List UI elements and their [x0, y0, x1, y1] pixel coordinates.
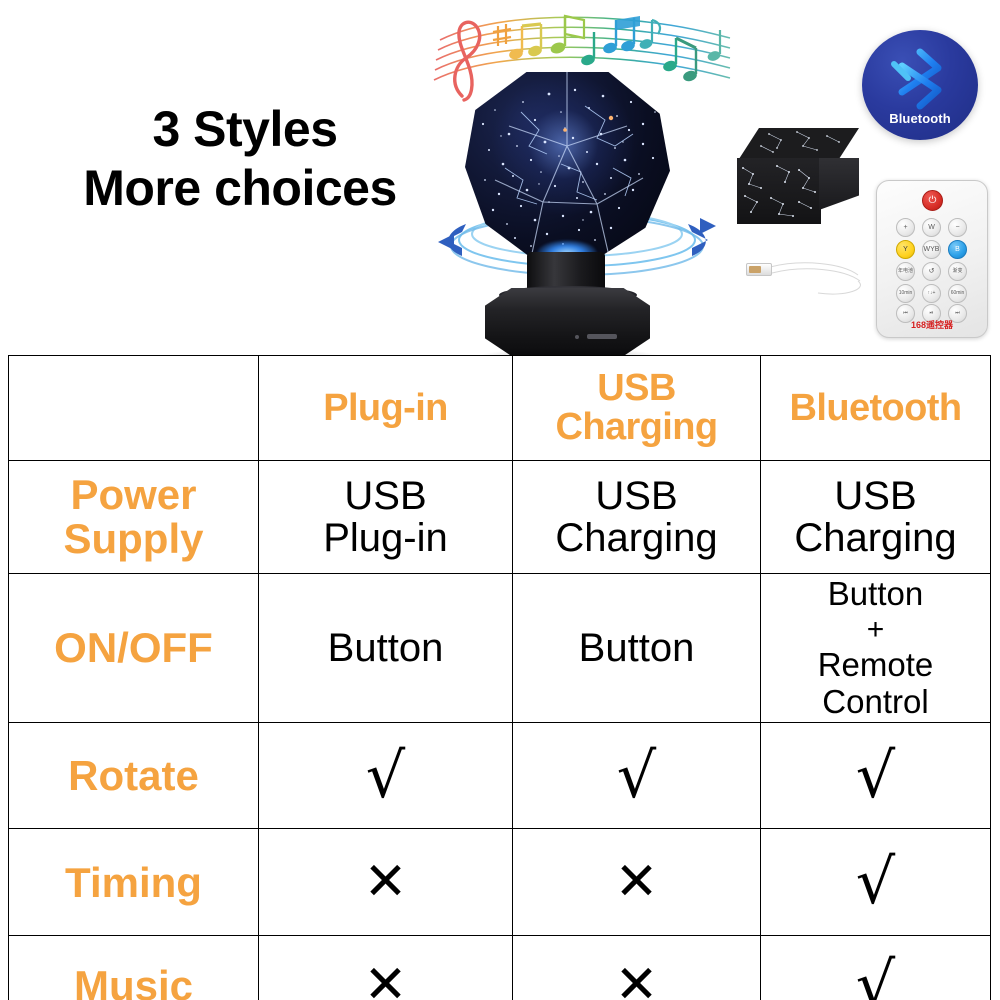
cell-power-supply-usb-charging: USB Charging	[513, 461, 761, 574]
row-label-music: Music	[9, 936, 259, 1000]
table-corner-cell	[9, 356, 259, 461]
row-label-power-supply: Power Supply	[9, 461, 259, 574]
cell-power-supply-plug-in-line-1: USB	[263, 475, 508, 517]
cell-on-off-usb-charging-line-1: Button	[517, 627, 756, 669]
column-header-usb-charging-line-2: Charging	[517, 408, 756, 447]
cell-power-supply-usb-charging-line-1: USB	[517, 475, 756, 517]
column-header-usb-charging: USB Charging	[513, 356, 761, 461]
table-row-power-supply: Power Supply USB Plug-in USB Charging US…	[9, 461, 991, 574]
headline-line-2: More choices	[40, 159, 440, 218]
headline-line-1: 3 Styles	[40, 100, 440, 159]
cell-power-supply-plug-in: USB Plug-in	[259, 461, 513, 574]
row-label-power-supply-line-2: Supply	[13, 517, 254, 561]
table-row-on-off: ON/OFF Button Button Button + Remote Con…	[9, 574, 991, 723]
cell-on-off-bluetooth-line-3: Remote Control	[765, 647, 986, 721]
cell-music-plug-in-cross-icon: ✕	[259, 936, 513, 1000]
row-label-on-off: ON/OFF	[9, 574, 259, 723]
cell-music-bluetooth-check-icon: √	[761, 936, 991, 1000]
remote-rotate-button[interactable]: ↺	[922, 262, 941, 281]
lamp-indicator-led	[575, 335, 579, 339]
row-label-music-line-1: Music	[13, 964, 254, 1000]
cell-on-off-usb-charging: Button	[513, 574, 761, 723]
lamp-usb-port	[587, 334, 617, 339]
remote-power-button[interactable]: ⏻	[922, 190, 943, 211]
cell-power-supply-bluetooth-line-2: Charging	[765, 517, 986, 559]
cell-on-off-bluetooth-line-2: +	[765, 613, 986, 647]
table-row-music: Music ✕ ✕ √	[9, 936, 991, 1000]
remote-y-button[interactable]: Y	[896, 240, 915, 259]
remote-mode-button[interactable]: 年电池	[896, 262, 915, 281]
product-comparison-page: 3 Styles More choices	[0, 0, 1000, 1000]
cell-power-supply-plug-in-line-2: Plug-in	[263, 517, 508, 559]
remote-plus-button[interactable]: +	[896, 218, 915, 237]
usb-cable	[742, 248, 870, 298]
table-row-rotate: Rotate √ √ √	[9, 723, 991, 829]
cell-rotate-usb-charging-check-icon: √	[513, 723, 761, 829]
page-title: 3 Styles More choices	[40, 100, 440, 218]
cell-timing-bluetooth-check-icon: √	[761, 829, 991, 936]
row-label-power-supply-line-1: Power	[13, 473, 254, 517]
remote-timer-60-button[interactable]: 60min	[948, 284, 967, 303]
remote-b-button[interactable]: B	[948, 240, 967, 259]
cell-timing-plug-in-cross-icon: ✕	[259, 829, 513, 936]
cell-on-off-bluetooth-line-1: Button	[765, 576, 986, 613]
usb-connector-contacts	[749, 266, 761, 273]
remote-wyb-button[interactable]: WYB	[922, 240, 941, 259]
table-header-row: Plug-in USB Charging Bluetooth	[9, 356, 991, 461]
starfield-pattern	[465, 72, 670, 262]
remote-model-label: 168遥控器	[876, 318, 988, 331]
column-header-usb-charging-line-1: USB	[517, 369, 756, 408]
star-projector-lamp	[455, 72, 685, 355]
remote-fade-button[interactable]: 渐变	[948, 262, 967, 281]
column-header-bluetooth-line-1: Bluetooth	[765, 389, 986, 428]
cell-rotate-plug-in-check-icon: √	[259, 723, 513, 829]
remote-w-button[interactable]: W	[922, 218, 941, 237]
row-label-rotate: Rotate	[9, 723, 259, 829]
bluetooth-badge-label: Bluetooth	[862, 111, 978, 126]
remote-control: ⏻ + W − Y WYB B 年电池 ↺ 渐变 10min ↑↓+ 60min…	[876, 180, 988, 338]
column-header-plug-in: Plug-in	[259, 356, 513, 461]
cell-on-off-plug-in-line-1: Button	[263, 627, 508, 669]
cell-on-off-plug-in: Button	[259, 574, 513, 723]
lamp-octagonal-base	[485, 288, 650, 355]
feature-comparison-table: Plug-in USB Charging Bluetooth Power Sup…	[8, 355, 991, 1000]
constellation-gift-box	[737, 128, 859, 226]
row-label-on-off-line-1: ON/OFF	[13, 626, 254, 670]
table-row-timing: Timing ✕ ✕ √	[9, 829, 991, 936]
gift-box-lid-print	[737, 128, 859, 162]
cell-power-supply-usb-charging-line-2: Charging	[517, 517, 756, 559]
column-header-plug-in-line-1: Plug-in	[263, 389, 508, 428]
cell-power-supply-bluetooth-line-1: USB	[765, 475, 986, 517]
remote-minus-button[interactable]: −	[948, 218, 967, 237]
gift-box-side	[819, 158, 859, 210]
row-label-timing: Timing	[9, 829, 259, 936]
cell-power-supply-bluetooth: USB Charging	[761, 461, 991, 574]
lamp-dodecahedron-shade	[465, 72, 670, 262]
bluetooth-badge: Bluetooth	[862, 30, 978, 140]
cell-timing-usb-charging-cross-icon: ✕	[513, 829, 761, 936]
row-label-rotate-line-1: Rotate	[13, 754, 254, 798]
column-header-bluetooth: Bluetooth	[761, 356, 991, 461]
cell-rotate-bluetooth-check-icon: √	[761, 723, 991, 829]
row-label-timing-line-1: Timing	[13, 861, 254, 905]
remote-timer-10-button[interactable]: 10min	[896, 284, 915, 303]
gift-box-front	[737, 158, 821, 224]
gift-box-constellation-print	[737, 158, 821, 224]
cell-on-off-bluetooth: Button + Remote Control	[761, 574, 991, 723]
cell-music-usb-charging-cross-icon: ✕	[513, 936, 761, 1000]
hero-section: 3 Styles More choices	[0, 0, 1000, 355]
remote-bright-up-button[interactable]: ↑↓+	[922, 284, 941, 303]
